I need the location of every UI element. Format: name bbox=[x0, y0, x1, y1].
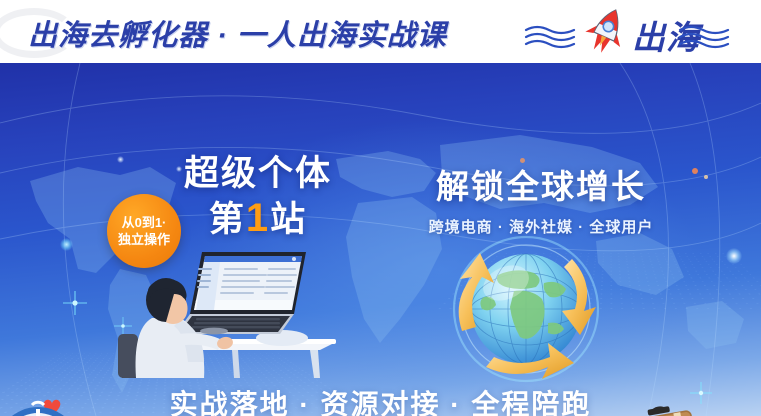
sparkle-icon bbox=[60, 288, 90, 318]
right-headline: 解锁全球增长 bbox=[400, 160, 682, 208]
header-bar: 出海去孵化器 · 一人出海实战课 bbox=[0, 0, 761, 63]
left-headline-prefix: 第 bbox=[209, 200, 246, 239]
bottom-tagline-primary: 实战落地 · 资源对接 · 全程陪跑 bbox=[0, 383, 761, 416]
rocket-icon bbox=[584, 6, 628, 58]
globe-with-arrows-illustration bbox=[432, 231, 620, 393]
left-headline-line2: 第1站 bbox=[148, 194, 368, 242]
left-headline-line1: 超级个体 bbox=[148, 153, 368, 194]
brand-logo: 出海 bbox=[520, 4, 752, 60]
poster-stage: 超级个体 第1站 从0到1· 独立操作 解锁全球增长 跨境电商 · 海外社媒 ·… bbox=[0, 63, 761, 416]
right-headline-block: 解锁全球增长 跨境电商 · 海外社媒 · 全球用户 bbox=[400, 160, 682, 237]
left-headline-suffix: 站 bbox=[270, 200, 307, 239]
wave-left-icon bbox=[524, 24, 580, 50]
badge-line1: 从0到1· bbox=[122, 214, 167, 231]
badge-line2: 独立操作 bbox=[118, 231, 170, 248]
wave-right-icon bbox=[678, 24, 750, 50]
left-headline-number: 1 bbox=[246, 196, 270, 240]
header-title: 出海去孵化器 · 一人出海实战课 bbox=[28, 12, 447, 54]
right-subtitle: 跨境电商 · 海外社媒 · 全球用户 bbox=[400, 216, 682, 237]
status-badge: 从0到1· 独立操作 bbox=[107, 194, 181, 268]
poster-banner: 出海去孵化器 · 一人出海实战课 bbox=[0, 0, 761, 416]
left-headline-block: 超级个体 第1站 bbox=[148, 153, 368, 242]
